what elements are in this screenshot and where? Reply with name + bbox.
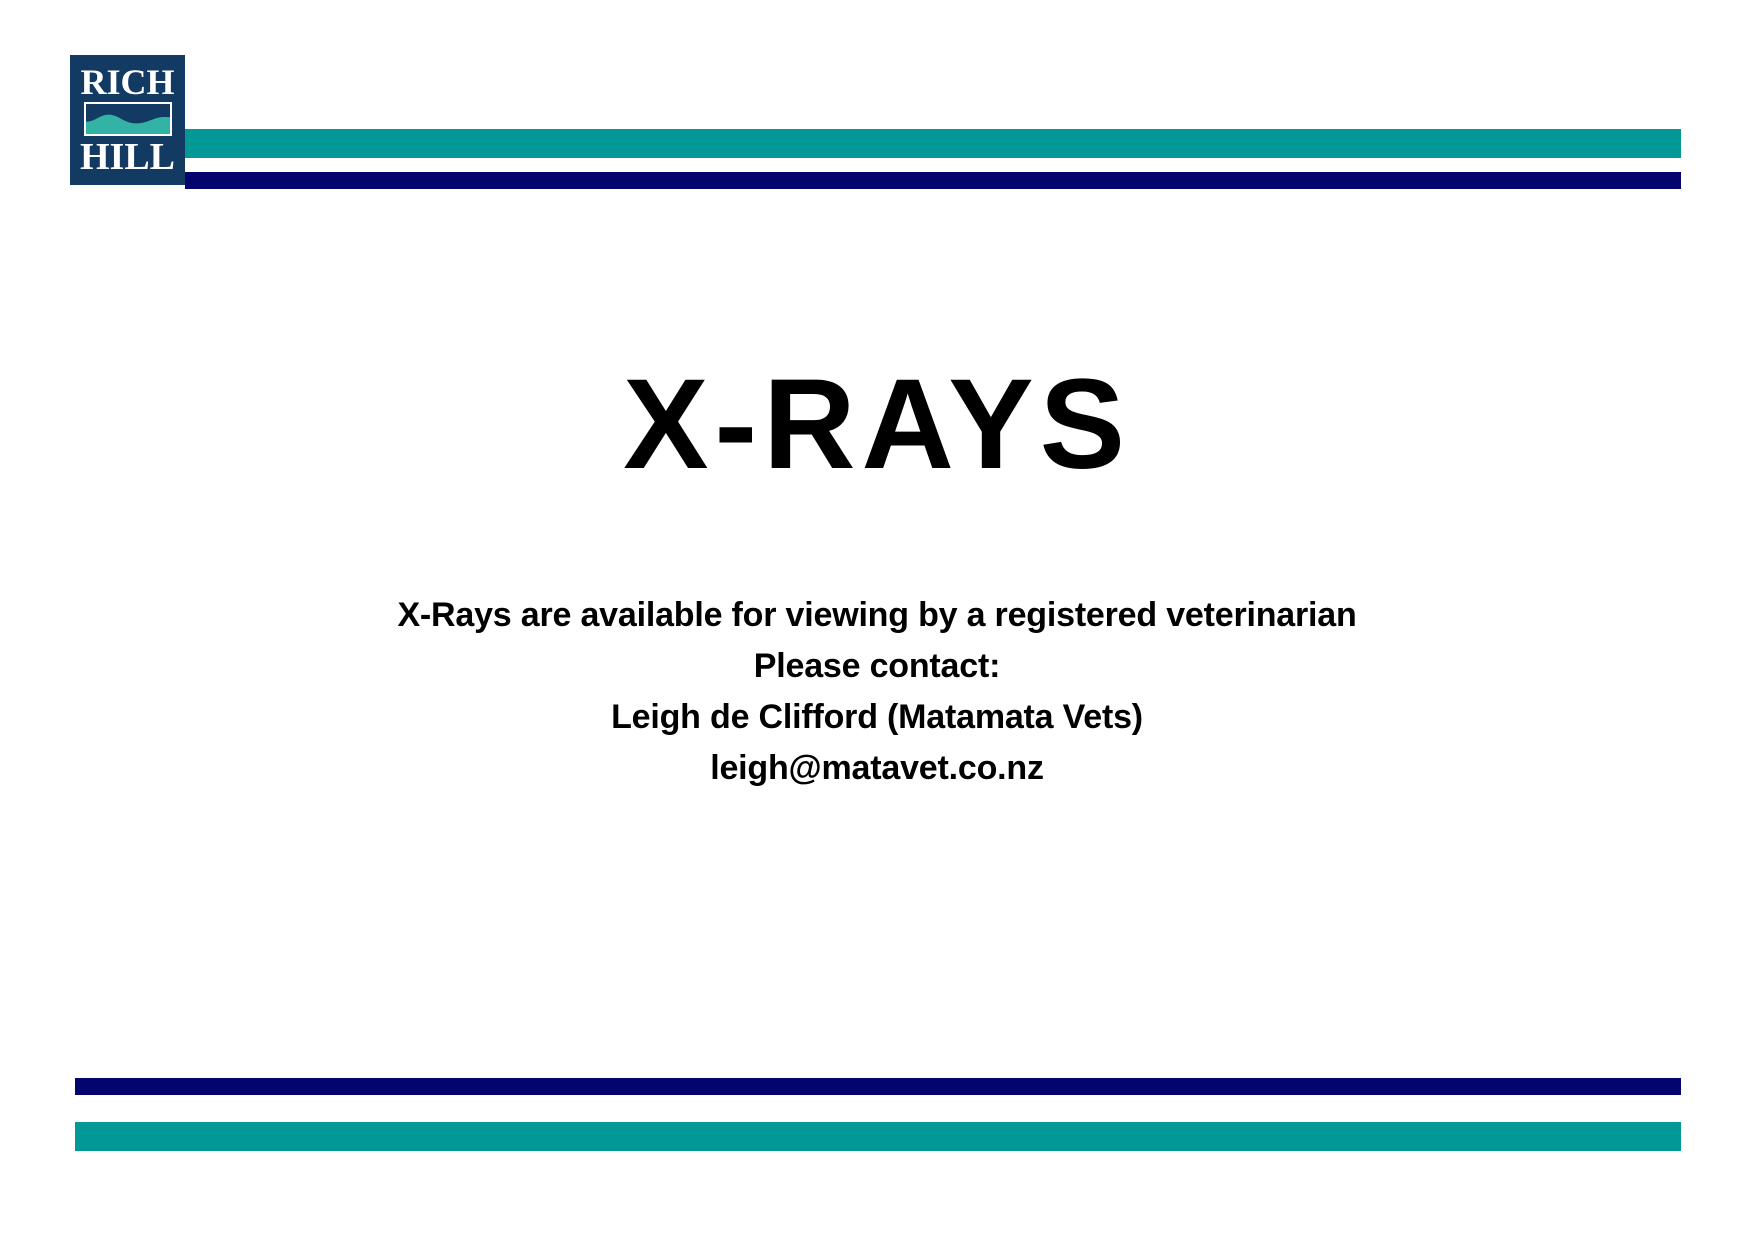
- footer-navy-bar: [75, 1078, 1681, 1095]
- logo-text-hill: HILL: [80, 138, 175, 176]
- header-teal-bar: [185, 129, 1681, 158]
- body-text-block: X-Rays are available for viewing by a re…: [0, 590, 1754, 794]
- body-line-contact-email: leigh@matavet.co.nz: [0, 743, 1754, 794]
- header-navy-bar: [185, 172, 1681, 189]
- page-title: X-RAYS: [0, 358, 1754, 492]
- footer-teal-bar: [75, 1122, 1681, 1151]
- body-line-availability: X-Rays are available for viewing by a re…: [0, 590, 1754, 641]
- body-line-contact-name: Leigh de Clifford (Matamata Vets): [0, 692, 1754, 743]
- wave-hill-icon: [84, 102, 172, 136]
- slide-canvas: RICH HILL X-RAYS X-Rays are available fo…: [0, 0, 1754, 1240]
- body-line-contact-prompt: Please contact:: [0, 641, 1754, 692]
- logo-text-rich: RICH: [80, 64, 174, 100]
- rich-hill-logo: RICH HILL: [70, 55, 185, 185]
